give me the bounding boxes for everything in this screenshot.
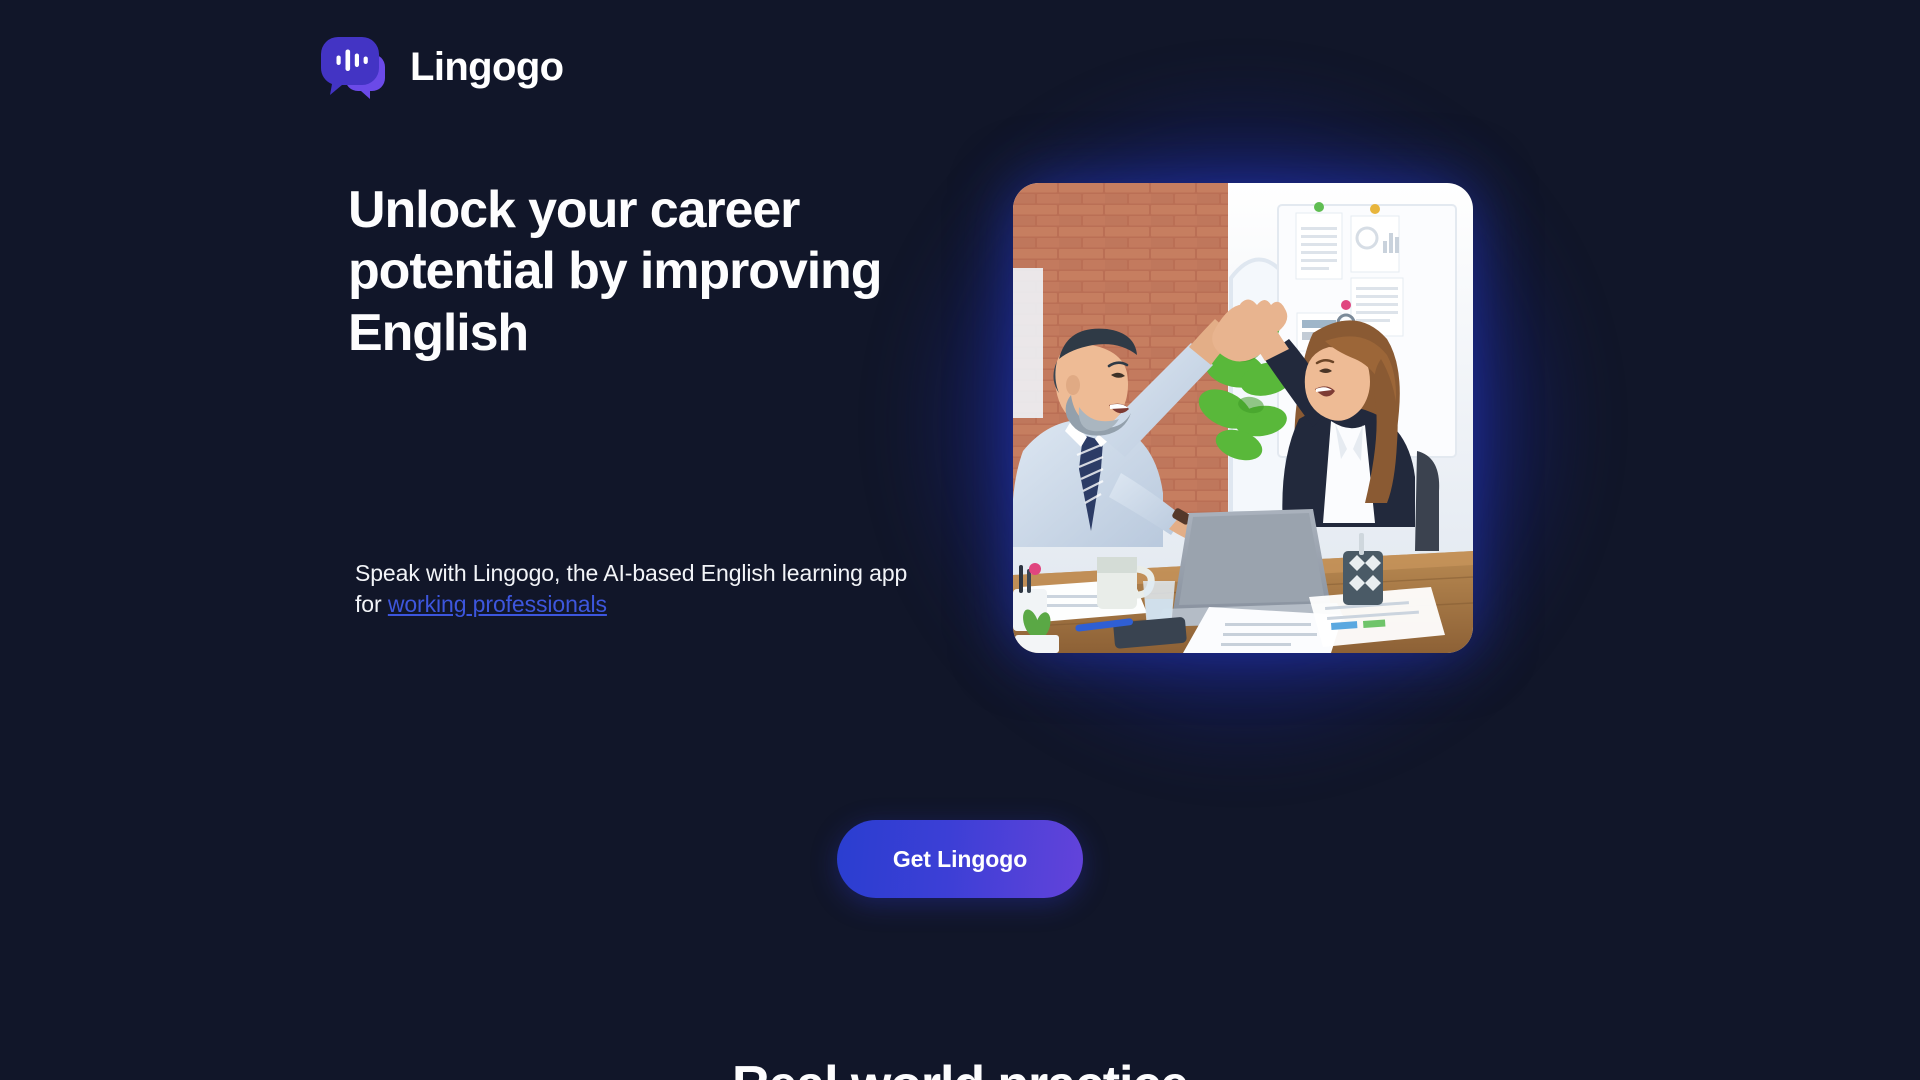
- hero-visual: [1013, 183, 1473, 653]
- hero-image: [1013, 183, 1473, 653]
- brand-logo-link[interactable]: Lingogo: [320, 32, 564, 102]
- speech-bubble-waveform-icon: [320, 32, 390, 102]
- next-section-heading: Real world practice: [0, 1055, 1920, 1080]
- working-professionals-link[interactable]: working professionals: [388, 591, 607, 617]
- cta-container: Get Lingogo: [0, 820, 1920, 898]
- next-section-peek: Real world practice: [0, 1055, 1920, 1080]
- brand-name: Lingogo: [410, 47, 564, 87]
- get-lingogo-button[interactable]: Get Lingogo: [837, 820, 1083, 898]
- hero-section: Unlock your career potential by improvin…: [0, 150, 1920, 850]
- page-title: Unlock your career potential by improvin…: [348, 180, 908, 364]
- site-header: Lingogo: [320, 32, 564, 102]
- hero-copy: Unlock your career potential by improvin…: [348, 180, 908, 364]
- hero-subtitle: Speak with Lingogo, the AI-based English…: [355, 558, 935, 621]
